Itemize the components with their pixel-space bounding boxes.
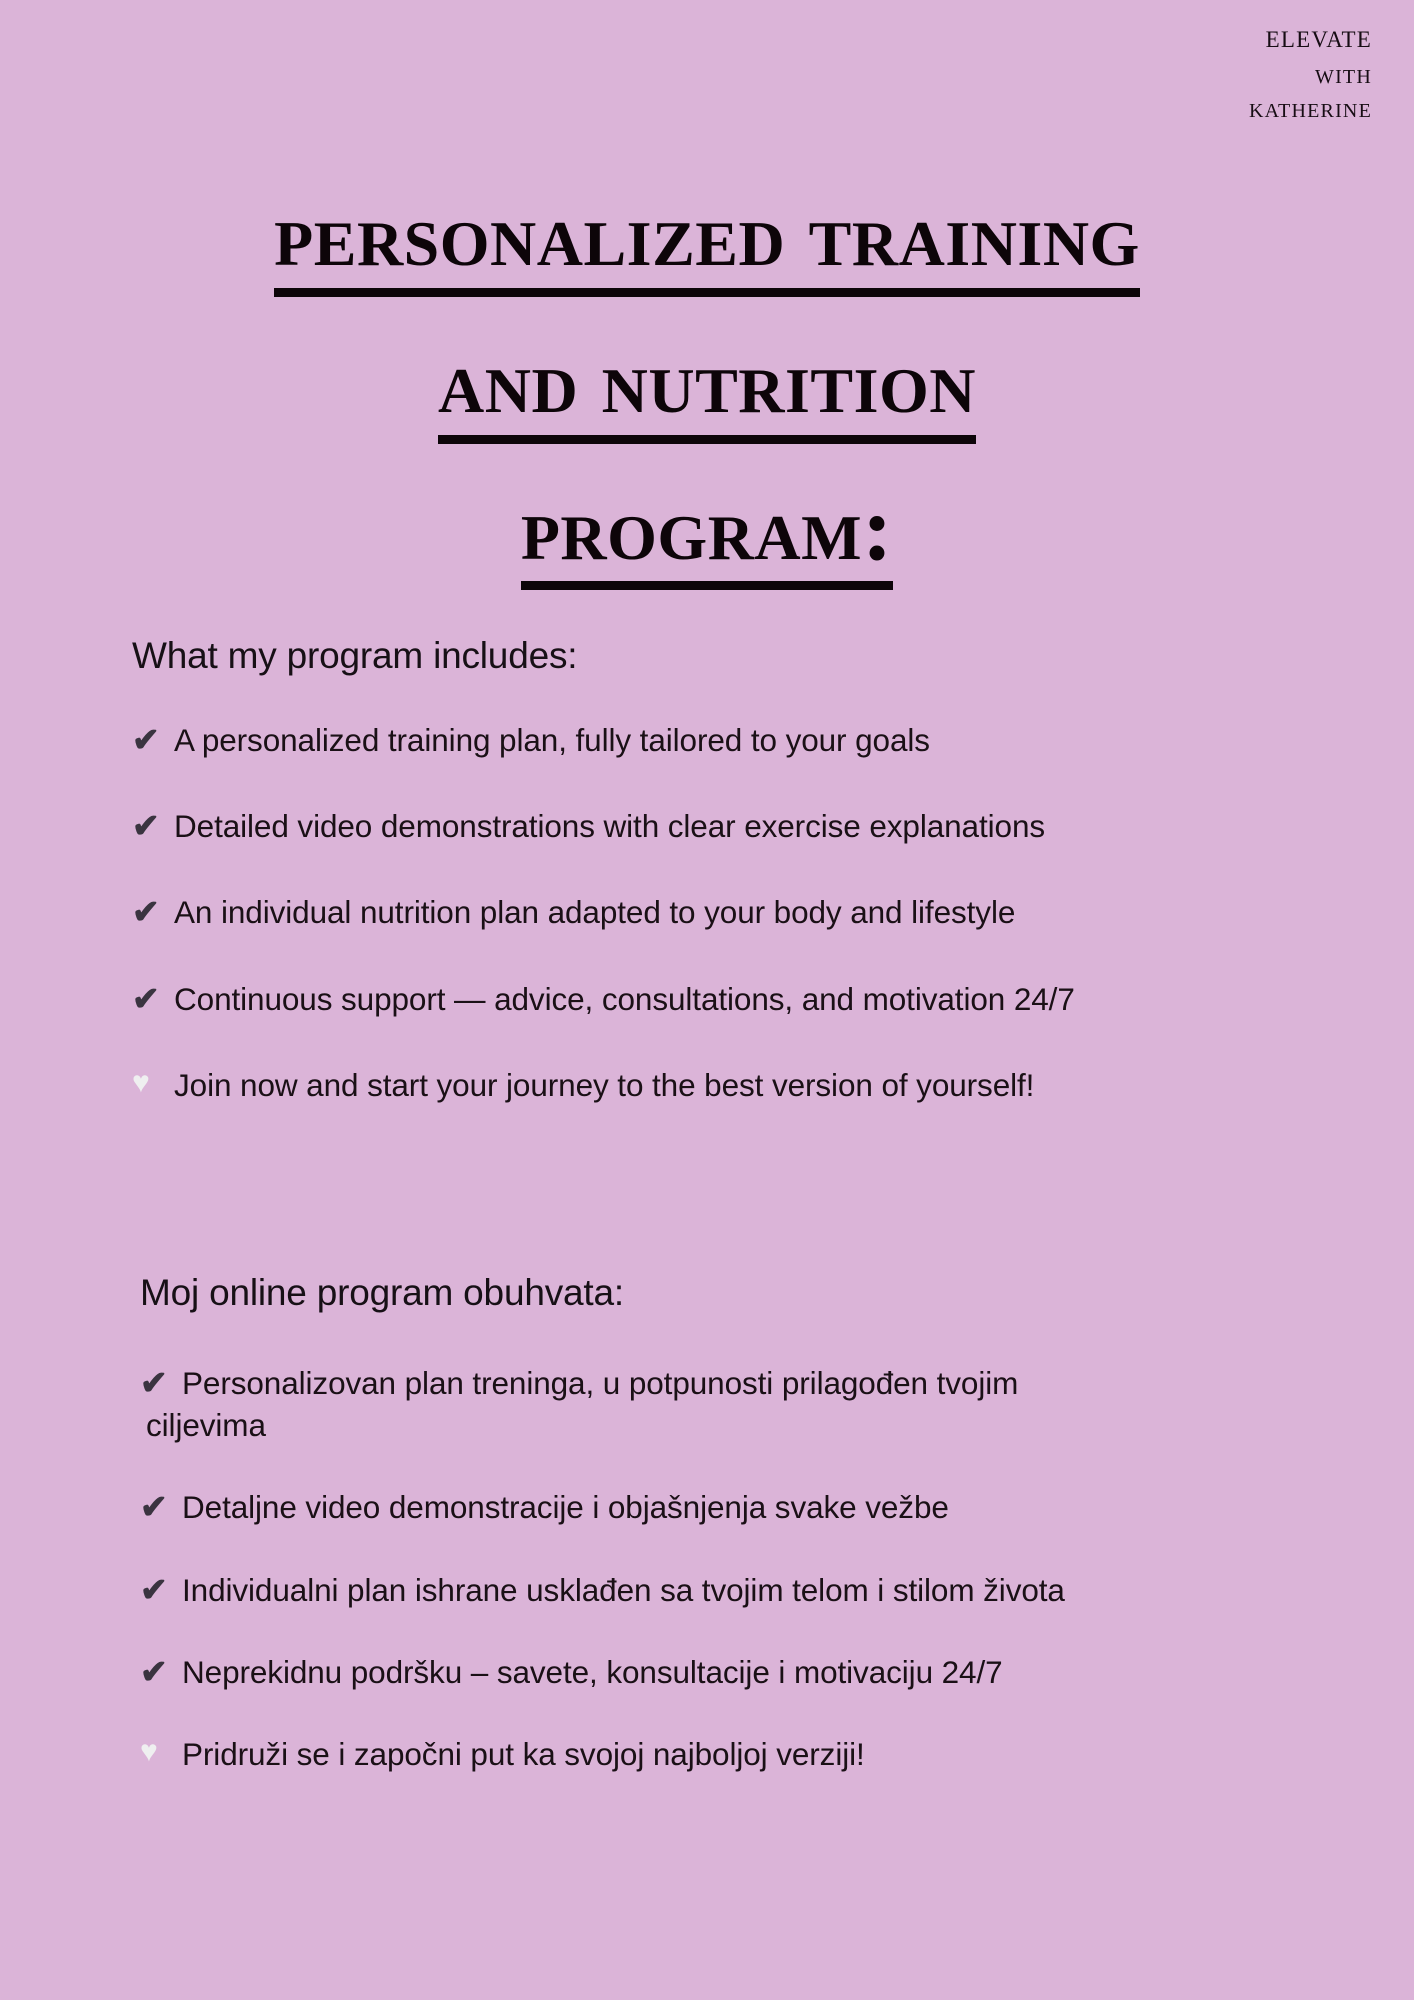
- check-mark-icon: ✔: [132, 978, 168, 1020]
- check-mark-icon: ✔: [132, 891, 168, 933]
- list-item-text: Personalizovan plan treninga, u potpunos…: [146, 1362, 1312, 1446]
- brand-logo: Elevate with Katherine: [1032, 18, 1372, 125]
- list-item-text: Neprekidnu podršku – savete, konsultacij…: [182, 1651, 1312, 1693]
- list-item-text: A personalized training plan, fully tail…: [174, 719, 1312, 761]
- list-item: ✔ A personalized training plan, fully ta…: [132, 719, 1312, 761]
- list-item-text: Continuous support — advice, consultatio…: [174, 978, 1312, 1020]
- section-english: What my program includes: ✔ A personaliz…: [132, 635, 1312, 1106]
- list-item-text: Individualni plan ishrane usklađen sa tv…: [182, 1569, 1312, 1611]
- list-item: ✔ Individualni plan ishrane usklađen sa …: [140, 1569, 1312, 1611]
- list-item: ✔ An individual nutrition plan adapted t…: [132, 891, 1312, 933]
- list-item-text-line2: ciljevima: [146, 1404, 1312, 1446]
- list-item-text-line1: Personalizovan plan treninga, u potpunos…: [182, 1365, 1018, 1401]
- list-item-text: Detailed video demonstrations with clear…: [174, 805, 1312, 847]
- title-line-3-text: Program:: [521, 482, 893, 591]
- check-mark-icon: ✔: [140, 1486, 176, 1528]
- page-title: Personalized Training And Nutrition Prog…: [0, 188, 1414, 590]
- heart-icon: ♥: [140, 1733, 176, 1771]
- check-mark-icon: ✔: [140, 1569, 176, 1611]
- section-serbian: Moj online program obuhvata: ✔ Personali…: [132, 1272, 1312, 1775]
- list-item: ✔ Detailed video demonstrations with cle…: [132, 805, 1312, 847]
- check-mark-icon: ✔: [132, 805, 168, 847]
- list-item-text: Join now and start your journey to the b…: [174, 1064, 1312, 1106]
- check-mark-icon: ✔: [132, 719, 168, 761]
- list-item-text: Pridruži se i započni put ka svojoj najb…: [182, 1733, 1312, 1775]
- section-english-heading: What my program includes:: [132, 635, 1312, 677]
- title-line-1-text: Personalized Training: [274, 188, 1140, 297]
- list-item-text: Detaljne video demonstracije i objašnjen…: [182, 1486, 1312, 1528]
- list-item: ♥ Join now and start your journey to the…: [132, 1064, 1312, 1106]
- brand-line-1: Elevate: [1032, 18, 1372, 57]
- list-item: ✔ Neprekidnu podršku – savete, konsultac…: [140, 1651, 1312, 1693]
- brand-line-2: with: [1032, 57, 1372, 91]
- heart-icon: ♥: [132, 1064, 168, 1102]
- poster-canvas: Elevate with Katherine Personalized Trai…: [0, 0, 1414, 2000]
- list-item: ✔ Detaljne video demonstracije i objašnj…: [140, 1486, 1312, 1528]
- title-line-3: Program:: [0, 482, 1414, 591]
- list-item: ✔ Continuous support — advice, consultat…: [132, 978, 1312, 1020]
- check-mark-icon: ✔: [140, 1651, 176, 1693]
- title-line-2: And Nutrition: [0, 335, 1414, 444]
- title-line-2-text: And Nutrition: [438, 335, 976, 444]
- list-item: ✔ Personalizovan plan treninga, u potpun…: [140, 1362, 1312, 1446]
- title-line-1: Personalized Training: [0, 188, 1414, 297]
- brand-line-3: Katherine: [1032, 91, 1372, 125]
- list-item: ♥ Pridruži se i započni put ka svojoj na…: [140, 1733, 1312, 1775]
- list-item-text: An individual nutrition plan adapted to …: [174, 891, 1312, 933]
- section-serbian-heading: Moj online program obuhvata:: [140, 1272, 1312, 1314]
